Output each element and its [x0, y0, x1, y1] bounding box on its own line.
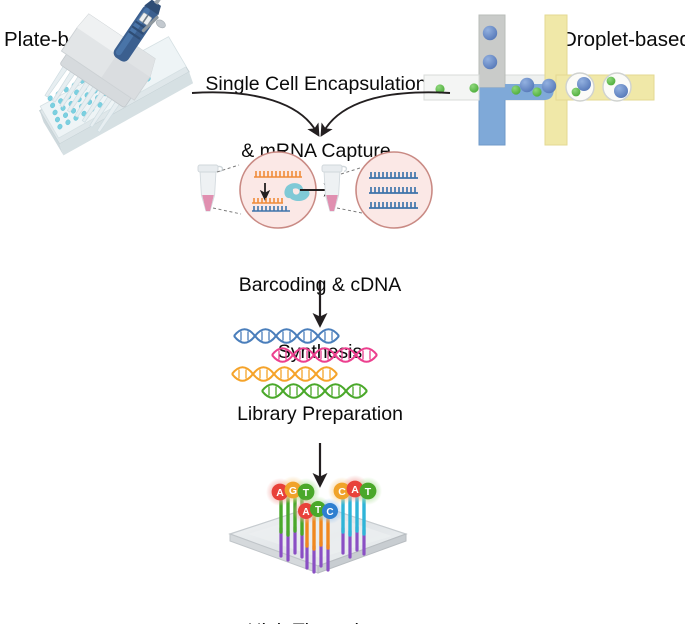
- dna-strand-pink: [272, 348, 377, 362]
- dna-strand-orange: [232, 367, 337, 381]
- svg-text:A: A: [302, 507, 309, 518]
- base-right-T: T: [360, 483, 377, 500]
- droplet-1: [566, 73, 594, 101]
- svg-text:C: C: [338, 486, 346, 498]
- svg-text:T: T: [315, 505, 321, 516]
- magnifier-cdna: [356, 152, 432, 228]
- svg-text:G: G: [289, 485, 297, 497]
- svg-text:A: A: [276, 487, 284, 499]
- dna-strand-green: [262, 384, 367, 398]
- sequencing-illustration: A G T: [230, 475, 406, 573]
- dna-strand-blue: [234, 329, 339, 343]
- converging-arrows: [192, 92, 450, 131]
- droplet-based-illustration: [424, 15, 654, 145]
- svg-text:C: C: [326, 507, 333, 518]
- workflow-figure: Plate-based Droplet-based Single Cell En…: [0, 0, 685, 624]
- svg-text:A: A: [351, 484, 359, 496]
- svg-text:T: T: [303, 487, 310, 499]
- library-dna-strands: [232, 329, 377, 398]
- plate-based-illustration: [31, 0, 202, 158]
- tube-right: [322, 165, 346, 211]
- droplet-2: [603, 73, 631, 101]
- svg-text:T: T: [365, 486, 372, 498]
- base-center-C: C: [322, 503, 338, 519]
- barcoding-illustration: [198, 152, 432, 228]
